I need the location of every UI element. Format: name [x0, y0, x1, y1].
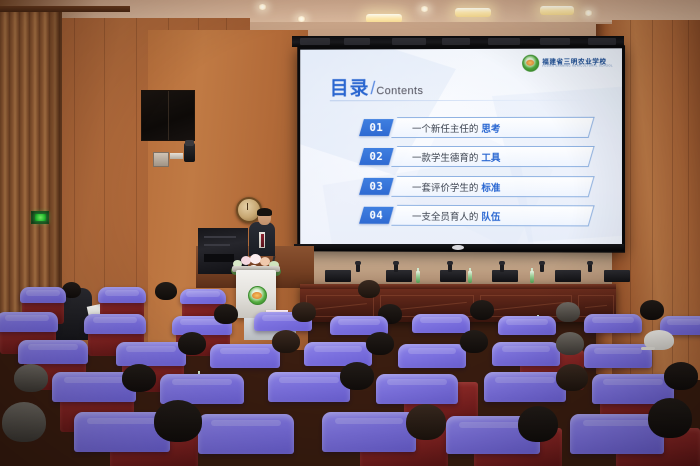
curtain-rail — [0, 6, 130, 12]
list-item[interactable]: 03 一套评价学生的 标准 — [361, 175, 591, 197]
ceiling-downlight — [258, 4, 267, 10]
school-logo: 福建省三明农业学校 FUJIAN SANMING AGRICULTURAL SC… — [522, 54, 613, 71]
attendee-head — [556, 332, 584, 355]
seat-cover — [268, 372, 350, 402]
slide-title-slash: / — [370, 78, 375, 99]
attendee-head — [366, 332, 394, 355]
table-nameplate — [325, 270, 351, 282]
item-bar: 一个新任主任的 思考 — [391, 116, 594, 137]
table-microphone — [394, 264, 398, 272]
seat-cover — [116, 342, 186, 366]
attendee-head — [648, 398, 692, 438]
attendee-head — [470, 300, 494, 320]
slide-title-en: Contents — [376, 85, 423, 97]
seat-cover — [492, 342, 560, 366]
water-bottle — [530, 271, 534, 283]
seat-cover — [210, 344, 280, 368]
item-number: 03 — [369, 179, 383, 192]
item-bar: 一支全员育人的 队伍 — [391, 205, 594, 227]
item-bar: 一款学生德育的 工具 — [391, 146, 594, 167]
table-nameplate — [555, 270, 581, 282]
attendee-head — [2, 402, 46, 442]
attendee-head — [460, 330, 488, 353]
seat-cover — [412, 314, 470, 333]
item-number-badge: 02 — [359, 148, 394, 165]
ceiling-panel-light — [540, 6, 574, 15]
item-number: 04 — [369, 209, 383, 222]
ceiling-downlight — [584, 10, 593, 16]
seat-cover — [484, 372, 566, 402]
seat-cover — [18, 340, 88, 364]
presenter-tie — [261, 234, 264, 247]
contents-list: 01 一个新任主任的 思考 02 一款学生德育的 工具 03 一套评价学生的 标… — [361, 116, 591, 235]
attendee-head — [272, 330, 300, 353]
seat-cover — [498, 316, 556, 335]
item-number-badge: 04 — [359, 207, 394, 224]
attendee-head — [358, 280, 380, 298]
attendee-head — [214, 304, 238, 324]
exit-sign-icon — [31, 211, 49, 224]
attendee-head — [406, 404, 446, 440]
ceiling-downlight — [420, 6, 429, 12]
school-name-en: FUJIAN SANMING AGRICULTURAL SCHOOL — [542, 65, 613, 68]
ceiling-panel-light — [455, 8, 491, 17]
wall-control-plate[interactable] — [153, 152, 169, 167]
table-nameplate — [386, 270, 412, 282]
screen-bottom-frame — [294, 244, 624, 251]
audience-area — [0, 286, 700, 466]
presenter-hair — [257, 208, 272, 216]
projection-screen[interactable]: 福建省三明农业学校 FUJIAN SANMING AGRICULTURAL SC… — [297, 45, 625, 252]
attendee-head — [556, 364, 588, 391]
attendee-head — [340, 362, 374, 390]
water-bottle — [468, 271, 472, 283]
attendee-head — [178, 332, 206, 355]
list-item[interactable]: 02 一款学生德育的 工具 — [361, 145, 591, 167]
attendee-head — [664, 362, 698, 390]
item-text-accent: 思考 — [482, 123, 501, 134]
table-microphone — [588, 264, 592, 272]
item-number: 01 — [369, 121, 383, 134]
attendee-cap — [644, 330, 674, 350]
item-number-badge: 03 — [359, 177, 394, 194]
slide-title-cn: 目录 — [330, 73, 370, 100]
presentation-slide: 福建省三明农业学校 FUJIAN SANMING AGRICULTURAL SC… — [300, 48, 622, 249]
item-number: 02 — [369, 150, 383, 163]
item-bar: 一套评价学生的 标准 — [391, 175, 594, 196]
table-microphone — [448, 264, 452, 272]
table-microphone — [500, 264, 504, 272]
slide-title: 目录 / Contents — [330, 73, 424, 100]
attendee-head — [154, 400, 202, 442]
item-text: 一个新任主任的 — [412, 123, 481, 134]
water-bottle — [416, 271, 420, 283]
presenter-body — [249, 222, 275, 256]
item-text-accent: 工具 — [482, 153, 501, 164]
acoustic-wall-panel — [141, 90, 195, 141]
wall-switch-strip[interactable] — [170, 153, 183, 159]
item-text: 一款学生德育的 — [412, 152, 481, 163]
seat-cover — [84, 314, 146, 334]
item-text-accent: 队伍 — [482, 212, 501, 223]
seat-cover — [20, 287, 66, 303]
school-emblem-icon — [522, 55, 539, 72]
seat-cover — [198, 414, 294, 454]
table-nameplate — [492, 270, 518, 282]
seat-cover — [180, 289, 226, 304]
list-item[interactable]: 04 一支全员育人的 队伍 — [361, 204, 591, 227]
attendee-head — [518, 406, 558, 442]
seat-cover — [98, 287, 146, 303]
camera-icon — [184, 143, 195, 162]
attendee-head — [556, 302, 580, 322]
item-text-accent: 标准 — [482, 182, 501, 193]
seat-cover — [584, 314, 642, 333]
attendee-head — [122, 364, 156, 392]
table-microphone — [540, 264, 544, 272]
stage-curtain — [0, 6, 62, 328]
seat-cover — [322, 412, 416, 452]
table-microphone — [356, 264, 360, 272]
seat-cover — [376, 374, 458, 404]
attendee-head — [155, 282, 177, 300]
table-nameplate — [440, 270, 466, 282]
table-nameplate — [604, 270, 630, 282]
item-text: 一支全员育人的 — [412, 211, 481, 222]
seat-cover — [398, 344, 466, 368]
seat-cover — [0, 312, 58, 332]
attendee-head — [14, 364, 48, 392]
item-number-badge: 01 — [359, 119, 394, 136]
list-item[interactable]: 01 一个新任主任的 思考 — [361, 116, 591, 138]
conference-hall-scene: 福建省三明农业学校 FUJIAN SANMING AGRICULTURAL SC… — [0, 0, 700, 466]
item-text: 一套评价学生的 — [412, 182, 481, 193]
attendee-head — [292, 302, 316, 322]
attendee-head — [640, 300, 664, 320]
